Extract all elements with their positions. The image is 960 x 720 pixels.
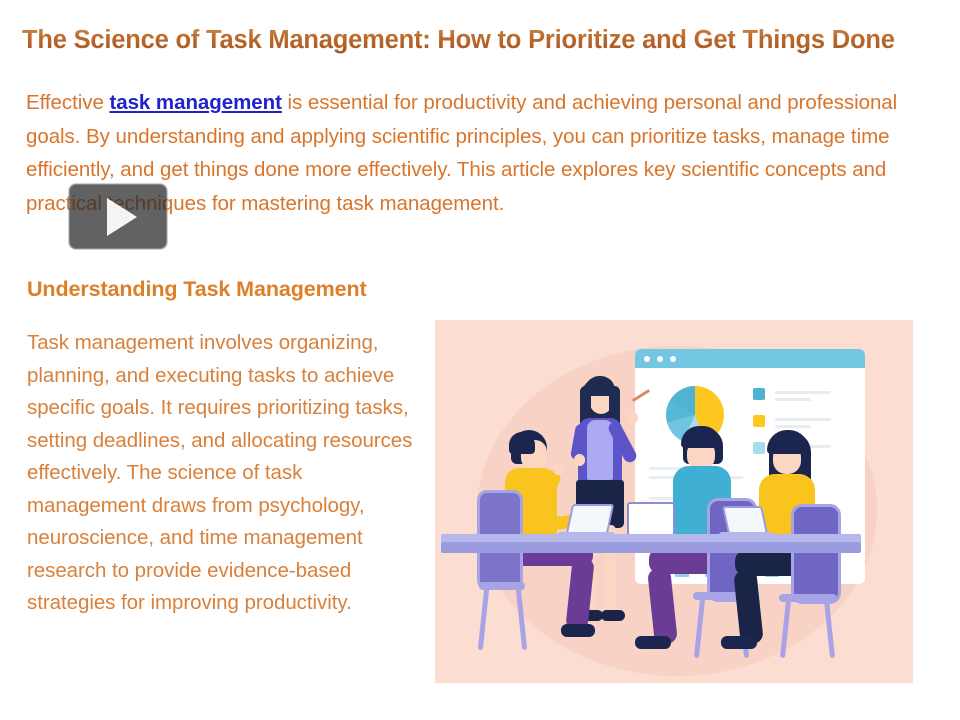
slide-canvas: The Science of Task Management: How to P… [0, 0, 960, 720]
meeting-illustration [435, 320, 913, 683]
legend-swatch-icon [753, 415, 765, 427]
video-play-overlay[interactable] [69, 184, 167, 249]
intro-text-before-link: Effective [26, 91, 109, 114]
section-heading: Understanding Task Management [27, 277, 367, 302]
table-surface [441, 542, 861, 553]
window-dot-icon [644, 356, 650, 362]
legend-label-line [775, 418, 831, 421]
legend-label-line [775, 391, 831, 394]
page-title: The Science of Task Management: How to P… [22, 26, 942, 54]
window-dot-icon [670, 356, 676, 362]
legend-swatch-icon [753, 388, 765, 400]
legend-swatch-icon [753, 442, 765, 454]
board-titlebar [635, 349, 865, 368]
legend-label-line [775, 398, 811, 401]
body-paragraph: Task management involves organizing, pla… [27, 327, 427, 620]
task-management-link[interactable]: task management [109, 91, 281, 114]
window-dot-icon [657, 356, 663, 362]
play-icon [107, 198, 137, 236]
legend-label-line [775, 425, 811, 428]
